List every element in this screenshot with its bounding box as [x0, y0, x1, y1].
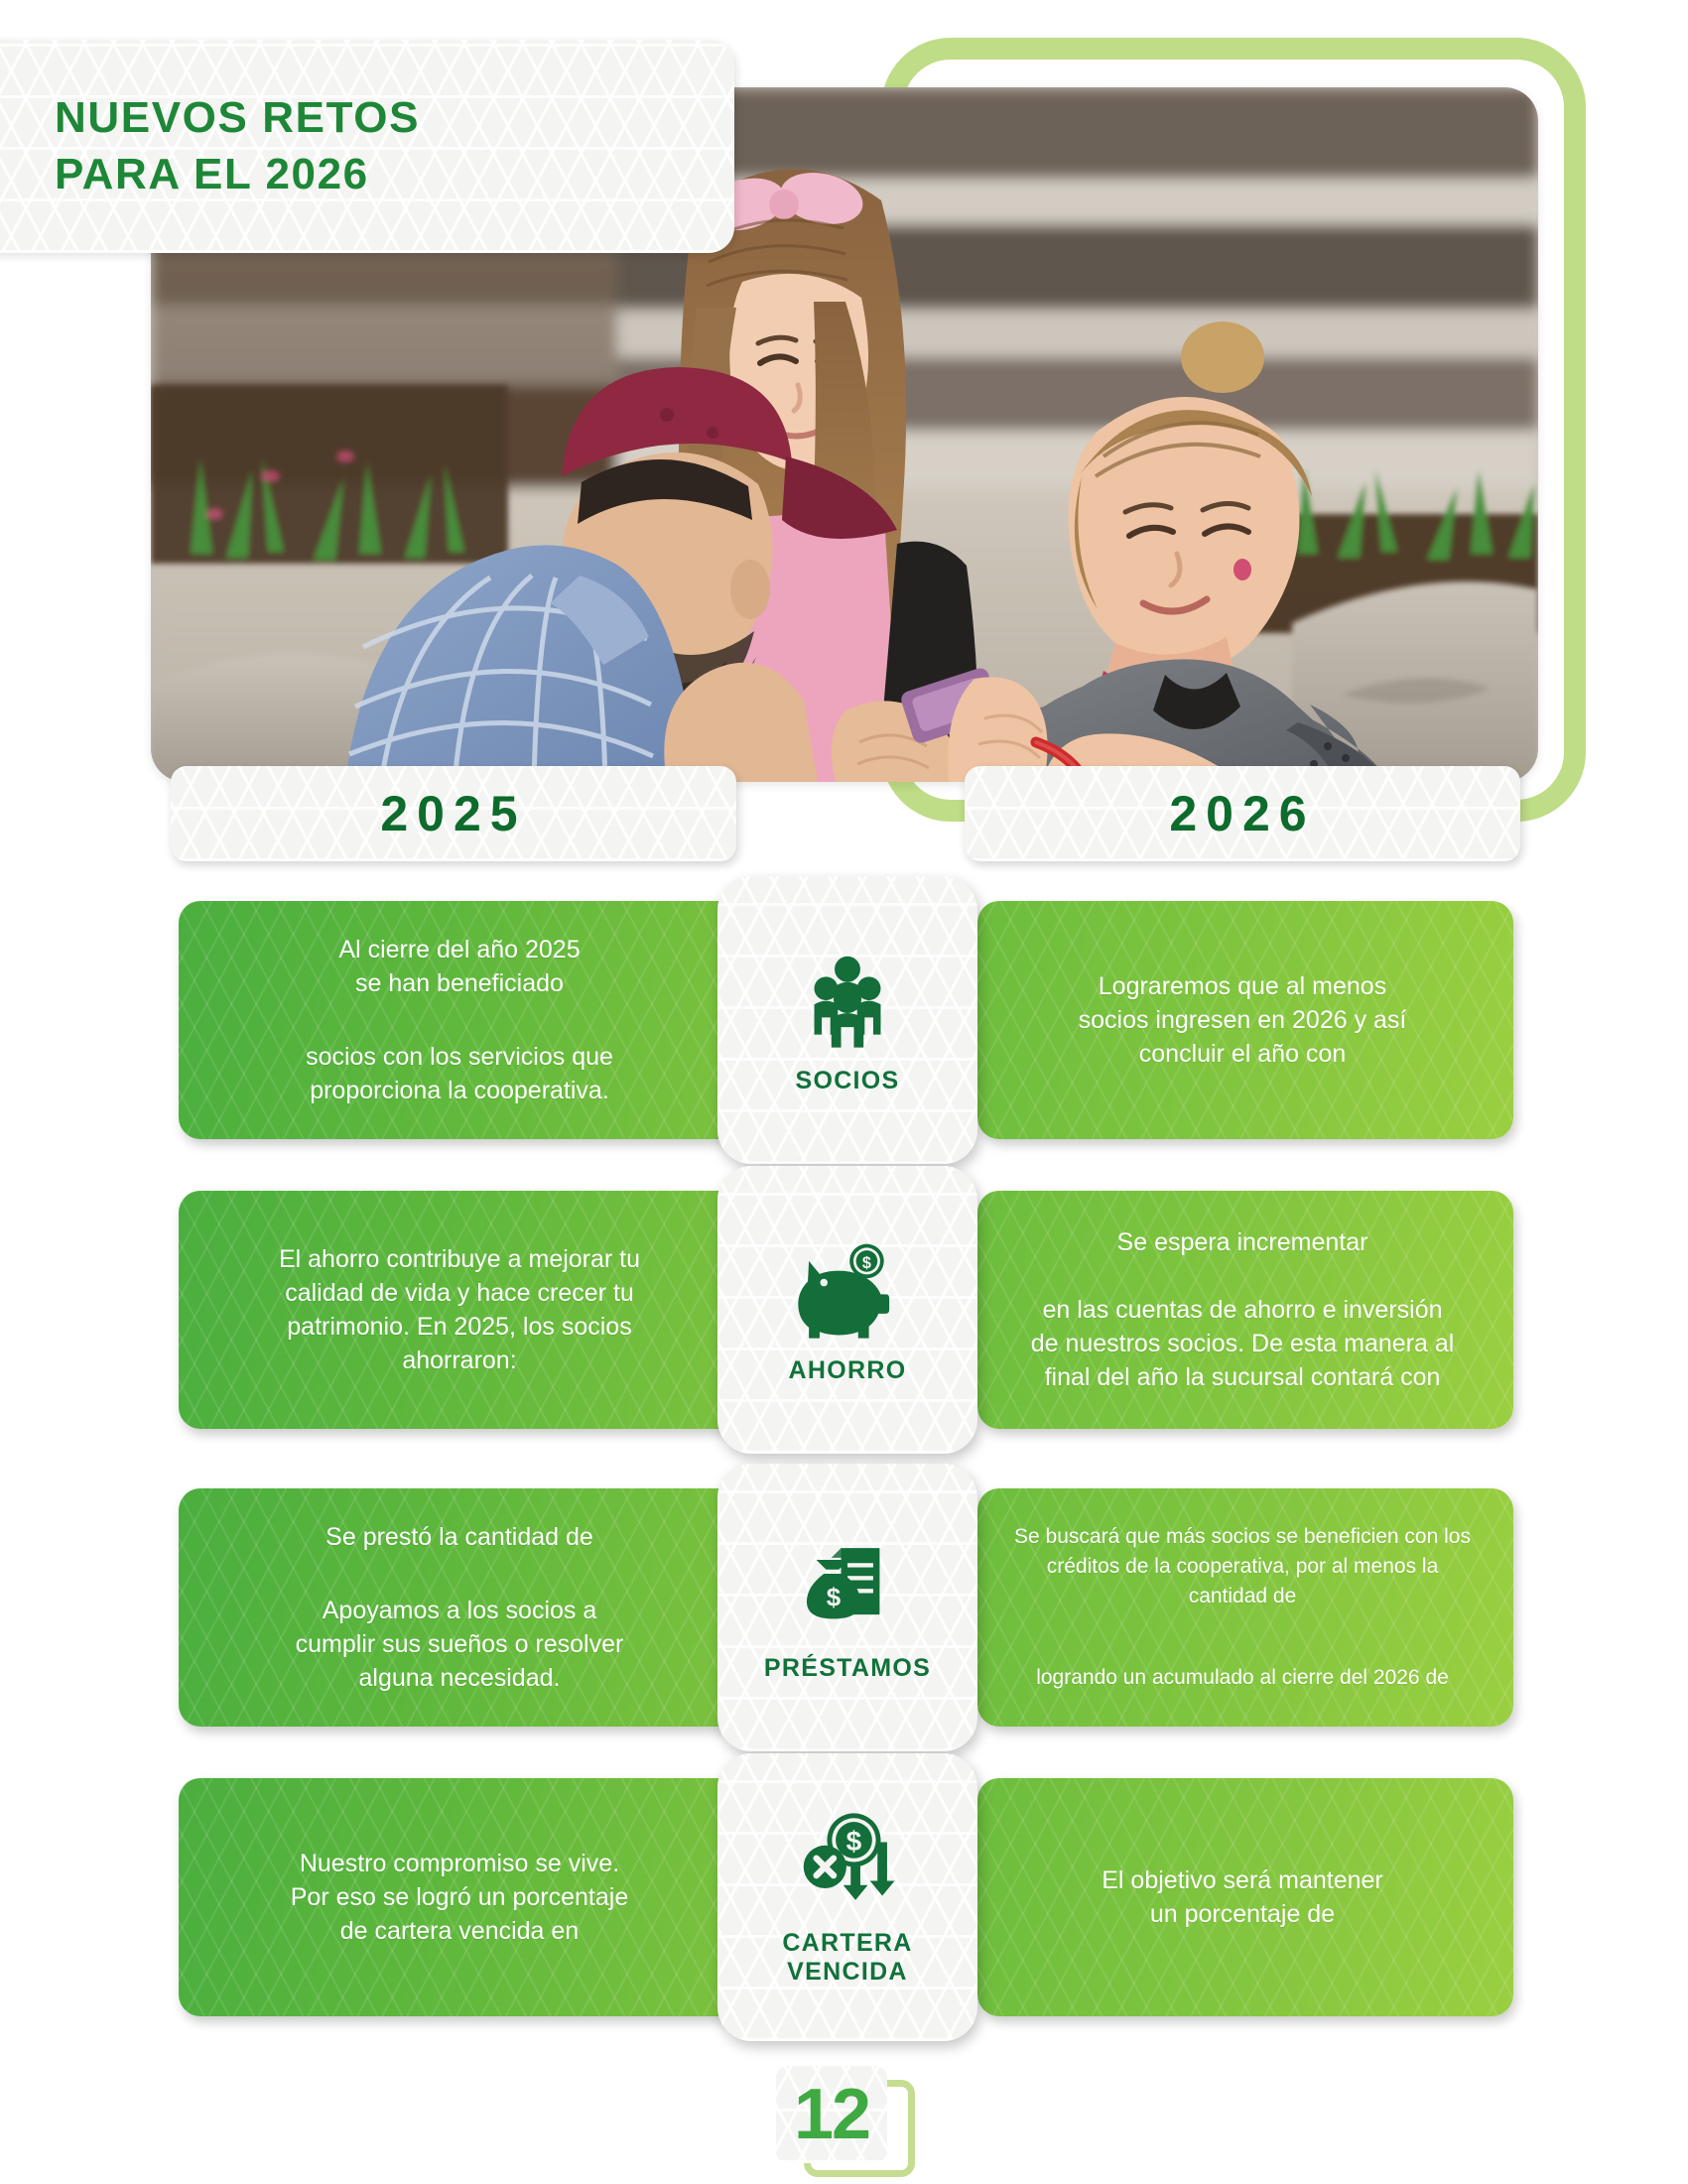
cartera-2026-text-top: El objetivo será mantener un porcentaje … [1005, 1863, 1480, 1931]
icon-card-socios-caption: SOCIOS [795, 1067, 899, 1095]
year-tab-2026: 2026 [965, 766, 1520, 861]
svg-text:$: $ [827, 1584, 842, 1611]
page-number-plate: 12 [776, 2066, 887, 2163]
year-tab-2025-label: 2025 [380, 785, 526, 842]
socios-panel-2026: Lograremos que al menos socios ingresen … [977, 901, 1513, 1139]
ahorro-2025-text-top: El ahorro contribuye a mejorar tu calida… [212, 1242, 707, 1377]
icon-card-socios: SOCIOS [717, 876, 977, 1164]
ahorro-2026-text-bottom: en las cuentas de ahorro e inversión de … [1005, 1293, 1480, 1394]
comparison-row-socios: Al cierre del año 2025 se han beneficiad… [0, 901, 1688, 1139]
prestamos-panel-2025: Se prestó la cantidad de Apoyamos a los … [179, 1488, 754, 1727]
icon-card-cartera-vencida: $ CARTERA VENCIDA [717, 1753, 977, 2041]
money-bag-document-icon: $ [793, 1533, 902, 1640]
comparison-row-ahorro: El ahorro contribuye a mejorar tu calida… [0, 1191, 1688, 1429]
cartera-panel-2026: El objetivo será mantener un porcentaje … [977, 1778, 1513, 2016]
page-footer: 12 [776, 2066, 915, 2177]
page-title-line-1: NUEVOS RETOS [55, 90, 734, 146]
comparison-row-cartera-vencida: Nuestro compromiso se vive. Por eso se l… [0, 1778, 1688, 2016]
svg-text:$: $ [846, 1826, 862, 1857]
group-people-icon [793, 946, 902, 1053]
prestamos-2025-text-top: Se prestó la cantidad de [212, 1520, 707, 1554]
ahorro-2026-text-top: Se espera incrementar [1005, 1225, 1480, 1259]
year-tab-2026-label: 2026 [1169, 785, 1315, 842]
page-title-plaque: NUEVOS RETOS PARA EL 2026 [0, 40, 734, 253]
coin-down-arrow-icon: $ [793, 1808, 902, 1915]
icon-card-ahorro-caption: AHORRO [789, 1356, 907, 1385]
icon-card-prestamos: $ PRÉSTAMOS [717, 1464, 977, 1751]
page-number: 12 [794, 2079, 869, 2150]
ahorro-panel-2026: Se espera incrementar en las cuentas de … [977, 1191, 1513, 1429]
ahorro-panel-2025: El ahorro contribuye a mejorar tu calida… [179, 1191, 754, 1429]
prestamos-2026-text-top: Se buscará que más socios se beneficien … [1005, 1522, 1480, 1610]
cartera-panel-2025: Nuestro compromiso se vive. Por eso se l… [179, 1778, 754, 2016]
socios-2025-text-top: Al cierre del año 2025 se han beneficiad… [212, 933, 707, 1000]
socios-panel-2025: Al cierre del año 2025 se han beneficiad… [179, 901, 754, 1139]
cartera-2025-text-top: Nuestro compromiso se vive. Por eso se l… [212, 1847, 707, 1948]
comparison-row-prestamos: Se prestó la cantidad de Apoyamos a los … [0, 1488, 1688, 1727]
prestamos-2026-text-bottom: logrando un acumulado al cierre del 2026… [1005, 1663, 1480, 1693]
year-tab-2025: 2025 [171, 766, 736, 861]
icon-card-ahorro: $ AHORRO [717, 1166, 977, 1454]
icon-card-cartera-vencida-caption: CARTERA VENCIDA [782, 1929, 912, 1987]
socios-2026-text-top: Lograremos que al menos socios ingresen … [1005, 969, 1480, 1071]
piggy-bank-icon: $ [793, 1235, 902, 1343]
icon-card-prestamos-caption: PRÉSTAMOS [764, 1654, 931, 1683]
prestamos-panel-2026: Se buscará que más socios se beneficien … [977, 1488, 1513, 1727]
prestamos-2025-text-bottom: Apoyamos a los socios a cumplir sus sueñ… [212, 1594, 707, 1695]
svg-text:$: $ [862, 1254, 871, 1272]
socios-2025-text-bottom: socios con los servicios que proporciona… [212, 1040, 707, 1107]
page-title-line-2: PARA EL 2026 [55, 147, 734, 202]
